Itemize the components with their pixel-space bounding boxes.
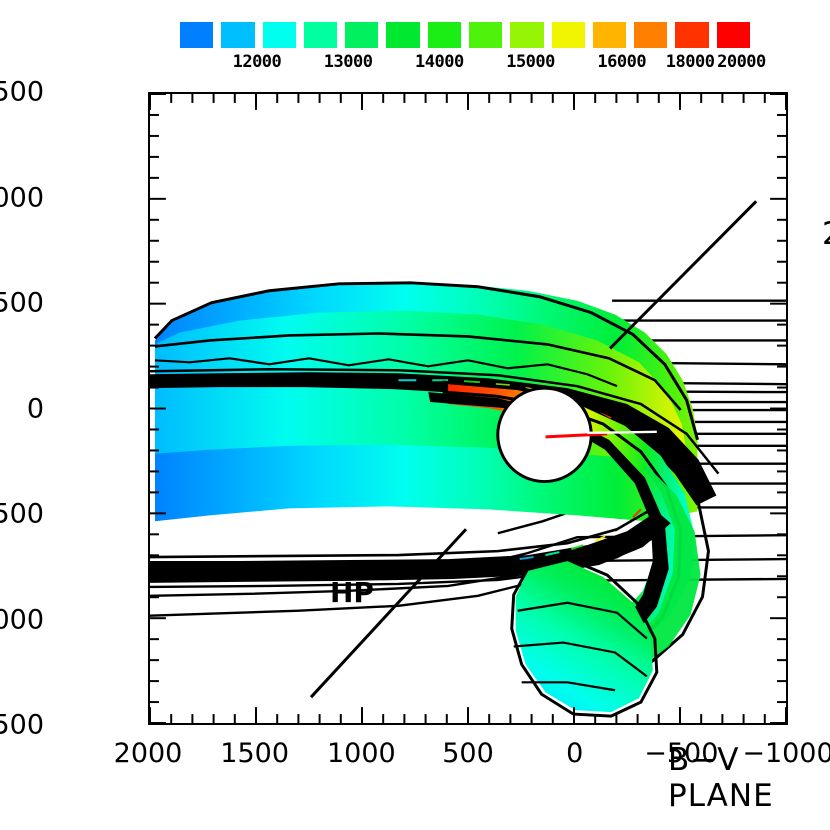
x-tick-1500: 1500 bbox=[220, 738, 289, 769]
x-tick-1000: 1000 bbox=[327, 738, 396, 769]
x-tick-2000: 2000 bbox=[114, 738, 183, 769]
b-field-leader-line bbox=[610, 201, 756, 348]
field-strength-label: 2μG bbox=[822, 216, 830, 252]
heliosphere-contour-svg bbox=[150, 94, 786, 723]
heliopause-label: HP bbox=[330, 576, 374, 609]
x-tick-500: 500 bbox=[442, 738, 494, 769]
plot-area: 2μG B HP B−V PLANE bbox=[148, 92, 788, 725]
plane-label: B−V PLANE bbox=[668, 742, 786, 814]
x-tick-0: 0 bbox=[566, 738, 583, 769]
flow-arrow-white bbox=[587, 432, 657, 433]
